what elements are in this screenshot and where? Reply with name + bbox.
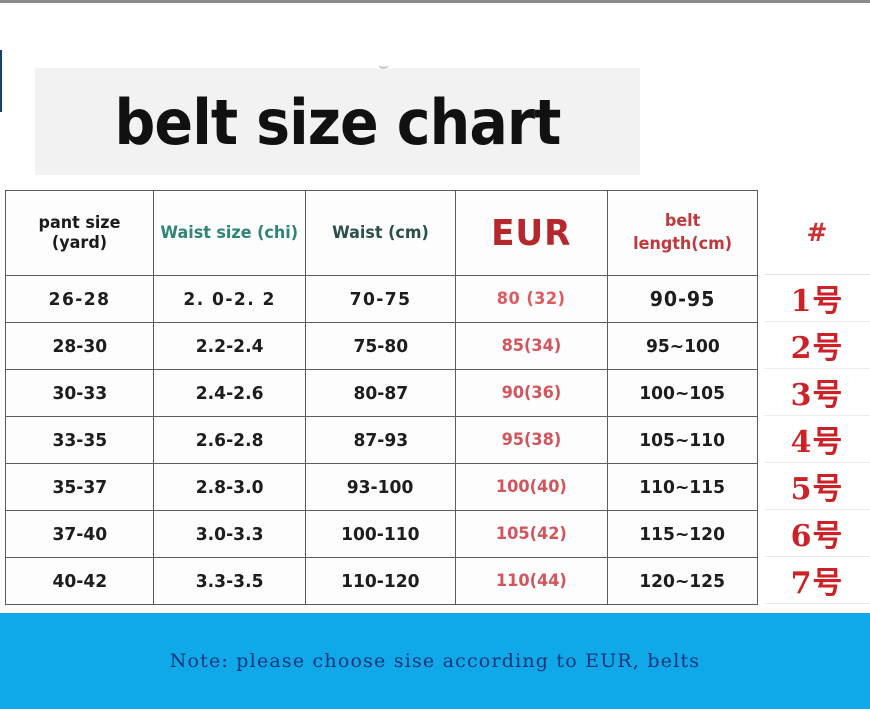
top-border-rule [0, 0, 870, 3]
cell-waist-chi-value: 2. 0-2. 2 [183, 289, 275, 310]
cell-belt-length-value: 95~100 [646, 336, 720, 357]
column-header-waist-cm-label: Waist (cm) [332, 223, 429, 243]
cell-eur-value: 85(34) [502, 336, 562, 356]
column-header-belt-length: belt length(cm) [608, 191, 758, 276]
cell-belt-length: 105~110 [608, 417, 758, 464]
cell-pant-size-value: 30-33 [52, 383, 107, 404]
table-row: 30-33 2.4-2.6 80-87 90(36) 100~105 [6, 370, 758, 417]
cell-waist-cm-value: 110-120 [341, 571, 419, 592]
table-row: 40-42 3.3-3.5 110-120 110(44) 120~125 [6, 558, 758, 605]
cell-belt-length: 90-95 [608, 276, 758, 323]
cell-waist-cm-value: 80-87 [353, 383, 408, 404]
cell-belt-length-value: 110~115 [640, 477, 726, 498]
table-row: 37-40 3.0-3.3 100-110 105(42) 115~120 [6, 511, 758, 558]
cell-waist-cm-value: 87-93 [353, 430, 408, 451]
column-header-waist-chi-label: Waist size (chi) [161, 223, 299, 243]
cell-pant-size-value: 37-40 [52, 524, 107, 545]
cell-pant-size: 35-37 [6, 464, 154, 511]
cell-eur-value: 90(36) [502, 383, 562, 403]
cell-belt-length: 115~120 [608, 511, 758, 558]
cell-waist-cm-value: 75-80 [353, 336, 408, 357]
size-number-value: 7号 [791, 558, 844, 602]
size-number-value: 3号 [791, 370, 844, 414]
size-number-value: 5号 [791, 464, 844, 508]
size-number-value: 4号 [791, 417, 844, 461]
cell-waist-chi: 2.6-2.8 [154, 417, 306, 464]
cell-waist-chi: 2.8-3.0 [154, 464, 306, 511]
column-header-eur-label: EUR [491, 213, 571, 254]
belt-header-line-1: belt [665, 211, 700, 231]
cell-eur: 90(36) [456, 370, 608, 417]
cell-pant-size: 40-42 [6, 558, 154, 605]
table-row: 33-35 2.6-2.8 87-93 95(38) 105~110 [6, 417, 758, 464]
cell-waist-chi: 3.0-3.3 [154, 511, 306, 558]
table-row: 26-28 2. 0-2. 2 70-75 80 (32) 90-95 [6, 276, 758, 323]
cell-waist-cm: 75-80 [306, 323, 456, 370]
cell-eur: 85(34) [456, 323, 608, 370]
column-header-eur: EUR [456, 191, 608, 276]
cell-eur-value: 95(38) [502, 430, 562, 450]
size-number-value: 2号 [791, 323, 844, 367]
list-item: 6号 [764, 510, 870, 557]
hash-icon: # [807, 218, 828, 247]
cell-belt-length-value: 120~125 [640, 571, 726, 592]
cell-waist-chi-value: 3.0-3.3 [196, 524, 264, 545]
list-item: 1号 [764, 275, 870, 322]
cell-waist-chi: 3.3-3.5 [154, 558, 306, 605]
size-number-value: 1号 [791, 276, 844, 320]
column-header-belt-length-label: belt length(cm) [633, 210, 732, 256]
list-item: 2号 [764, 322, 870, 369]
cell-waist-chi-value: 2.4-2.6 [196, 383, 264, 404]
cell-waist-chi-value: 2.6-2.8 [196, 430, 264, 451]
belt-header-line-2: length(cm) [633, 234, 732, 254]
cell-waist-chi-value: 2.8-3.0 [196, 477, 264, 498]
cell-waist-cm: 93-100 [306, 464, 456, 511]
cell-belt-length: 100~105 [608, 370, 758, 417]
cell-pant-size: 37-40 [6, 511, 154, 558]
list-item: 3号 [764, 369, 870, 416]
cell-eur-value: 80 (32) [497, 289, 566, 309]
cell-waist-cm-value: 93-100 [347, 477, 414, 498]
cell-pant-size-value: 35-37 [52, 477, 107, 498]
cell-eur-value: 100(40) [496, 477, 567, 497]
cell-waist-cm-value: 100-110 [341, 524, 419, 545]
table-row: 28-30 2.2-2.4 75-80 85(34) 95~100 [6, 323, 758, 370]
cell-pant-size-value: 26-28 [49, 289, 111, 310]
cell-waist-cm: 70-75 [306, 276, 456, 323]
cell-waist-cm: 87-93 [306, 417, 456, 464]
list-item: 5号 [764, 463, 870, 510]
cell-pant-size: 30-33 [6, 370, 154, 417]
cell-eur: 95(38) [456, 417, 608, 464]
cell-eur: 80 (32) [456, 276, 608, 323]
cell-waist-chi-value: 2.2-2.4 [196, 336, 264, 357]
cell-eur: 100(40) [456, 464, 608, 511]
cell-belt-length: 95~100 [608, 323, 758, 370]
table-row: 35-37 2.8-3.0 93-100 100(40) 110~115 [6, 464, 758, 511]
column-header-waist-chi: Waist size (chi) [154, 191, 306, 276]
cell-waist-cm: 100-110 [306, 511, 456, 558]
column-header-pant-size-label: pant size (yard) [10, 213, 148, 253]
cell-belt-length-value: 115~120 [640, 524, 726, 545]
left-edge-marker [0, 50, 2, 112]
cell-pant-size: 26-28 [6, 276, 154, 323]
cell-belt-length-value: 100~105 [640, 383, 726, 404]
cell-pant-size-value: 40-42 [52, 571, 107, 592]
cell-belt-length-value: 105~110 [640, 430, 726, 451]
size-chart-table: pant size (yard) Waist size (chi) Waist … [5, 190, 758, 605]
cell-eur: 105(42) [456, 511, 608, 558]
cell-pant-size: 28-30 [6, 323, 154, 370]
column-header-hash: # [764, 190, 870, 275]
list-item: 7号 [764, 557, 870, 604]
cell-waist-cm-value: 70-75 [350, 289, 412, 310]
cell-waist-chi: 2.4-2.6 [154, 370, 306, 417]
note-text: Note: please choose sise according to EU… [0, 613, 870, 709]
cell-eur-value: 105(42) [496, 524, 567, 544]
cell-waist-cm: 110-120 [306, 558, 456, 605]
cell-waist-chi: 2. 0-2. 2 [154, 276, 306, 323]
table-header-row: pant size (yard) Waist size (chi) Waist … [6, 191, 758, 276]
cell-belt-length: 120~125 [608, 558, 758, 605]
column-header-waist-cm: Waist (cm) [306, 191, 456, 276]
cell-eur: 110(44) [456, 558, 608, 605]
cell-pant-size-value: 33-35 [52, 430, 107, 451]
cell-waist-chi-value: 3.3-3.5 [196, 571, 264, 592]
size-number-column: # 1号 2号 3号 4号 5号 6号 7号 [764, 190, 870, 604]
cell-belt-length-value: 90-95 [650, 287, 716, 311]
size-number-value: 6号 [791, 511, 844, 555]
cell-waist-cm: 80-87 [306, 370, 456, 417]
cell-belt-length: 110~115 [608, 464, 758, 511]
cell-waist-chi: 2.2-2.4 [154, 323, 306, 370]
cell-pant-size: 33-35 [6, 417, 154, 464]
cell-eur-value: 110(44) [496, 571, 567, 591]
page-title: belt size chart [59, 72, 616, 172]
list-item: 4号 [764, 416, 870, 463]
cell-pant-size-value: 28-30 [52, 336, 107, 357]
column-header-pant-size: pant size (yard) [6, 191, 154, 276]
